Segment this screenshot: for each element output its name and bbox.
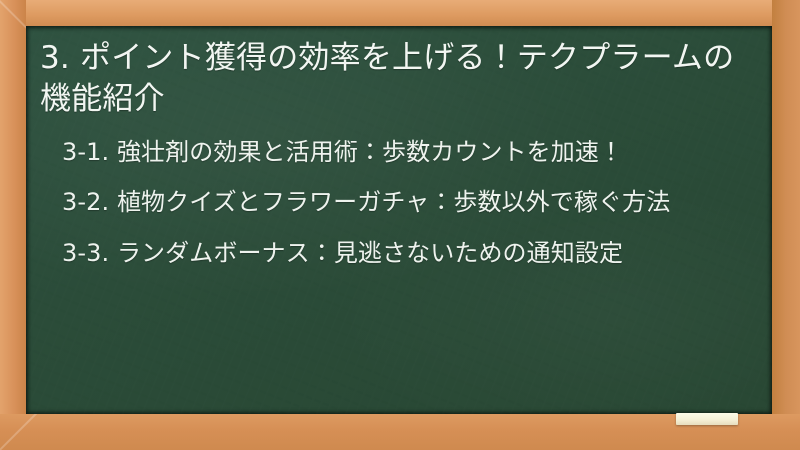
chalkboard-graphic: 3. ポイント獲得の効率を上げる！テクプラームの機能紹介 3-1. 強壮剤の効果… bbox=[0, 0, 800, 450]
chalkboard-surface: 3. ポイント獲得の効率を上げる！テクプラームの機能紹介 3-1. 強壮剤の効果… bbox=[26, 26, 772, 414]
frame-edge-right bbox=[772, 0, 800, 450]
frame-edge-top bbox=[0, 0, 800, 26]
chalk-stick-icon bbox=[676, 413, 738, 425]
list-item: 3-1. 強壮剤の効果と活用術：歩数カウントを加速！ bbox=[62, 136, 756, 168]
list-item: 3-2. 植物クイズとフラワーガチャ：歩数以外で稼ぐ方法 bbox=[62, 186, 756, 218]
page-title: 3. ポイント獲得の効率を上げる！テクプラームの機能紹介 bbox=[40, 38, 756, 120]
section-list: 3-1. 強壮剤の効果と活用術：歩数カウントを加速！ 3-2. 植物クイズとフラ… bbox=[40, 136, 756, 269]
list-item: 3-3. ランダムボーナス：見逃さないための通知設定 bbox=[62, 237, 756, 269]
board-content: 3. ポイント獲得の効率を上げる！テクプラームの機能紹介 3-1. 強壮剤の効果… bbox=[26, 26, 772, 414]
frame-edge-left bbox=[0, 0, 26, 450]
